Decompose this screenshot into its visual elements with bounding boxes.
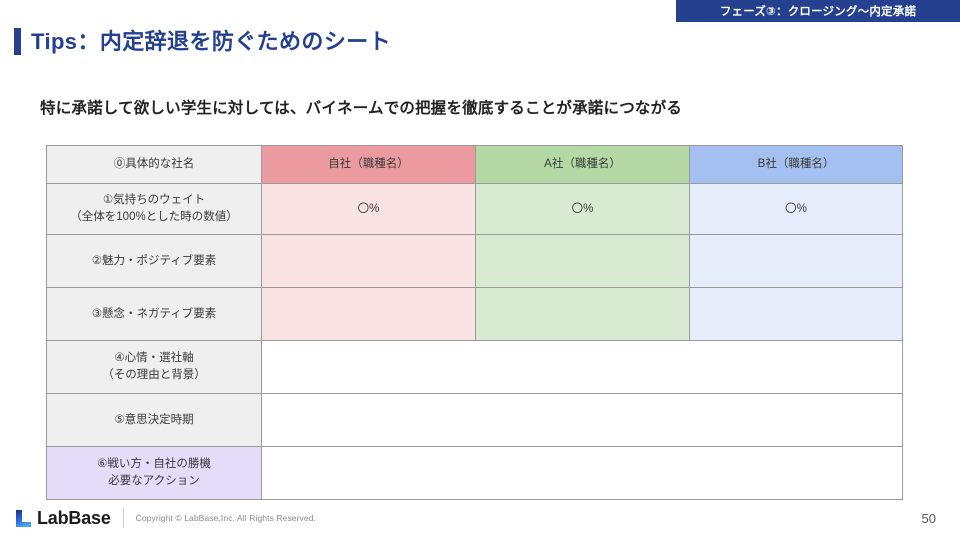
footer-divider [123,508,124,528]
table-row: ⑤意思決定時期 [47,394,903,447]
row-label-weight: ①気持ちのウェイト （全体を100%とした時の数値） [47,184,262,235]
offer-decline-prevention-sheet: ⓪具体的な社名 自社（職種名） A社（職種名） B社（職種名） ①気持ちのウェイ… [46,145,903,500]
header-cell-label: ⓪具体的な社名 [47,146,262,184]
phase-banner-label: フェーズ③：クロージング〜内定承諾 [720,3,916,19]
cell-weight-company-a[interactable]: 〇% [476,184,690,235]
cell-negative-company-a[interactable] [476,288,690,341]
cell-negative-company-b[interactable] [690,288,903,341]
header-cell-company-b: B社（職種名） [690,146,903,184]
cell-positive-company-b[interactable] [690,235,903,288]
cell-strategy-merged[interactable] [262,447,903,500]
row-label-decision-timing: ⑤意思決定時期 [47,394,262,447]
row-label-positive: ②魅力・ポジティブ要素 [47,235,262,288]
table-row: ②魅力・ポジティブ要素 [47,235,903,288]
table-row: ③懸念・ネガティブ要素 [47,288,903,341]
table-row: ⑥戦い方・自社の勝機 必要なアクション [47,447,903,500]
cell-weight-company-b[interactable]: 〇% [690,184,903,235]
cell-negative-own[interactable] [262,288,476,341]
header-cell-company-a: A社（職種名） [476,146,690,184]
labbase-logo-icon [16,510,31,527]
cell-positive-own[interactable] [262,235,476,288]
cell-positive-company-a[interactable] [476,235,690,288]
page-number: 50 [922,511,936,526]
slide-title: Tips：内定辞退を防ぐためのシート [14,28,391,55]
header-cell-own: 自社（職種名） [262,146,476,184]
lead-sentence: 特に承諾して欲しい学生に対しては、バイネームでの把握を徹底することが承諾につなが… [40,96,682,118]
cell-feelings-merged[interactable] [262,341,903,394]
slide-title-text: Tips：内定辞退を防ぐためのシート [31,31,391,53]
copyright-text: Copyright © LabBase,Inc. All Rights Rese… [136,513,316,523]
row-label-negative: ③懸念・ネガティブ要素 [47,288,262,341]
row-label-strategy: ⑥戦い方・自社の勝機 必要なアクション [47,447,262,500]
cell-decision-timing-merged[interactable] [262,394,903,447]
table-row: ①気持ちのウェイト （全体を100%とした時の数値） 〇% 〇% 〇% [47,184,903,235]
title-accent-bar [14,28,21,55]
table-row: ④心情・選社軸 （その理由と背景） [47,341,903,394]
table-header-row: ⓪具体的な社名 自社（職種名） A社（職種名） B社（職種名） [47,146,903,184]
brand-name: LabBase [37,509,111,527]
row-label-feelings: ④心情・選社軸 （その理由と背景） [47,341,262,394]
cell-weight-own[interactable]: 〇% [262,184,476,235]
phase-banner: フェーズ③：クロージング〜内定承諾 [676,0,960,22]
footer: LabBase Copyright © LabBase,Inc. All Rig… [16,508,316,528]
